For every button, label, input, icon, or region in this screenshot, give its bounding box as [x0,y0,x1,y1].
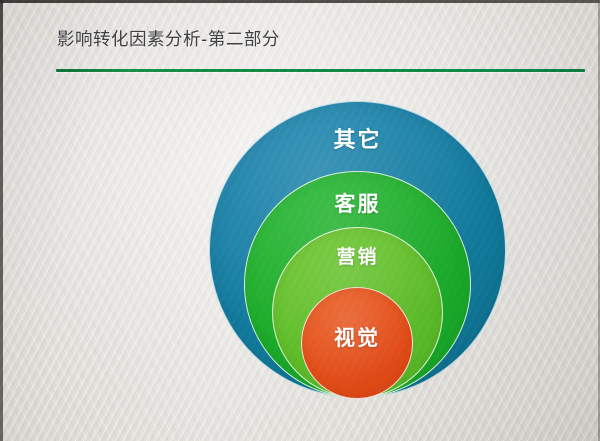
ring-label-other: 其它 [210,122,505,154]
ring-visual[interactable]: 视觉 [301,287,413,399]
nested-circles-diagram: 其它 客服 营销 视觉 [0,0,600,441]
ring-label-marketing: 营销 [273,242,442,269]
ring-label-visual: 视觉 [302,322,412,352]
ring-label-service: 客服 [245,188,470,218]
presentation-slide: 影响转化因素分析-第二部分 其它 客服 营销 视觉 [0,0,600,441]
